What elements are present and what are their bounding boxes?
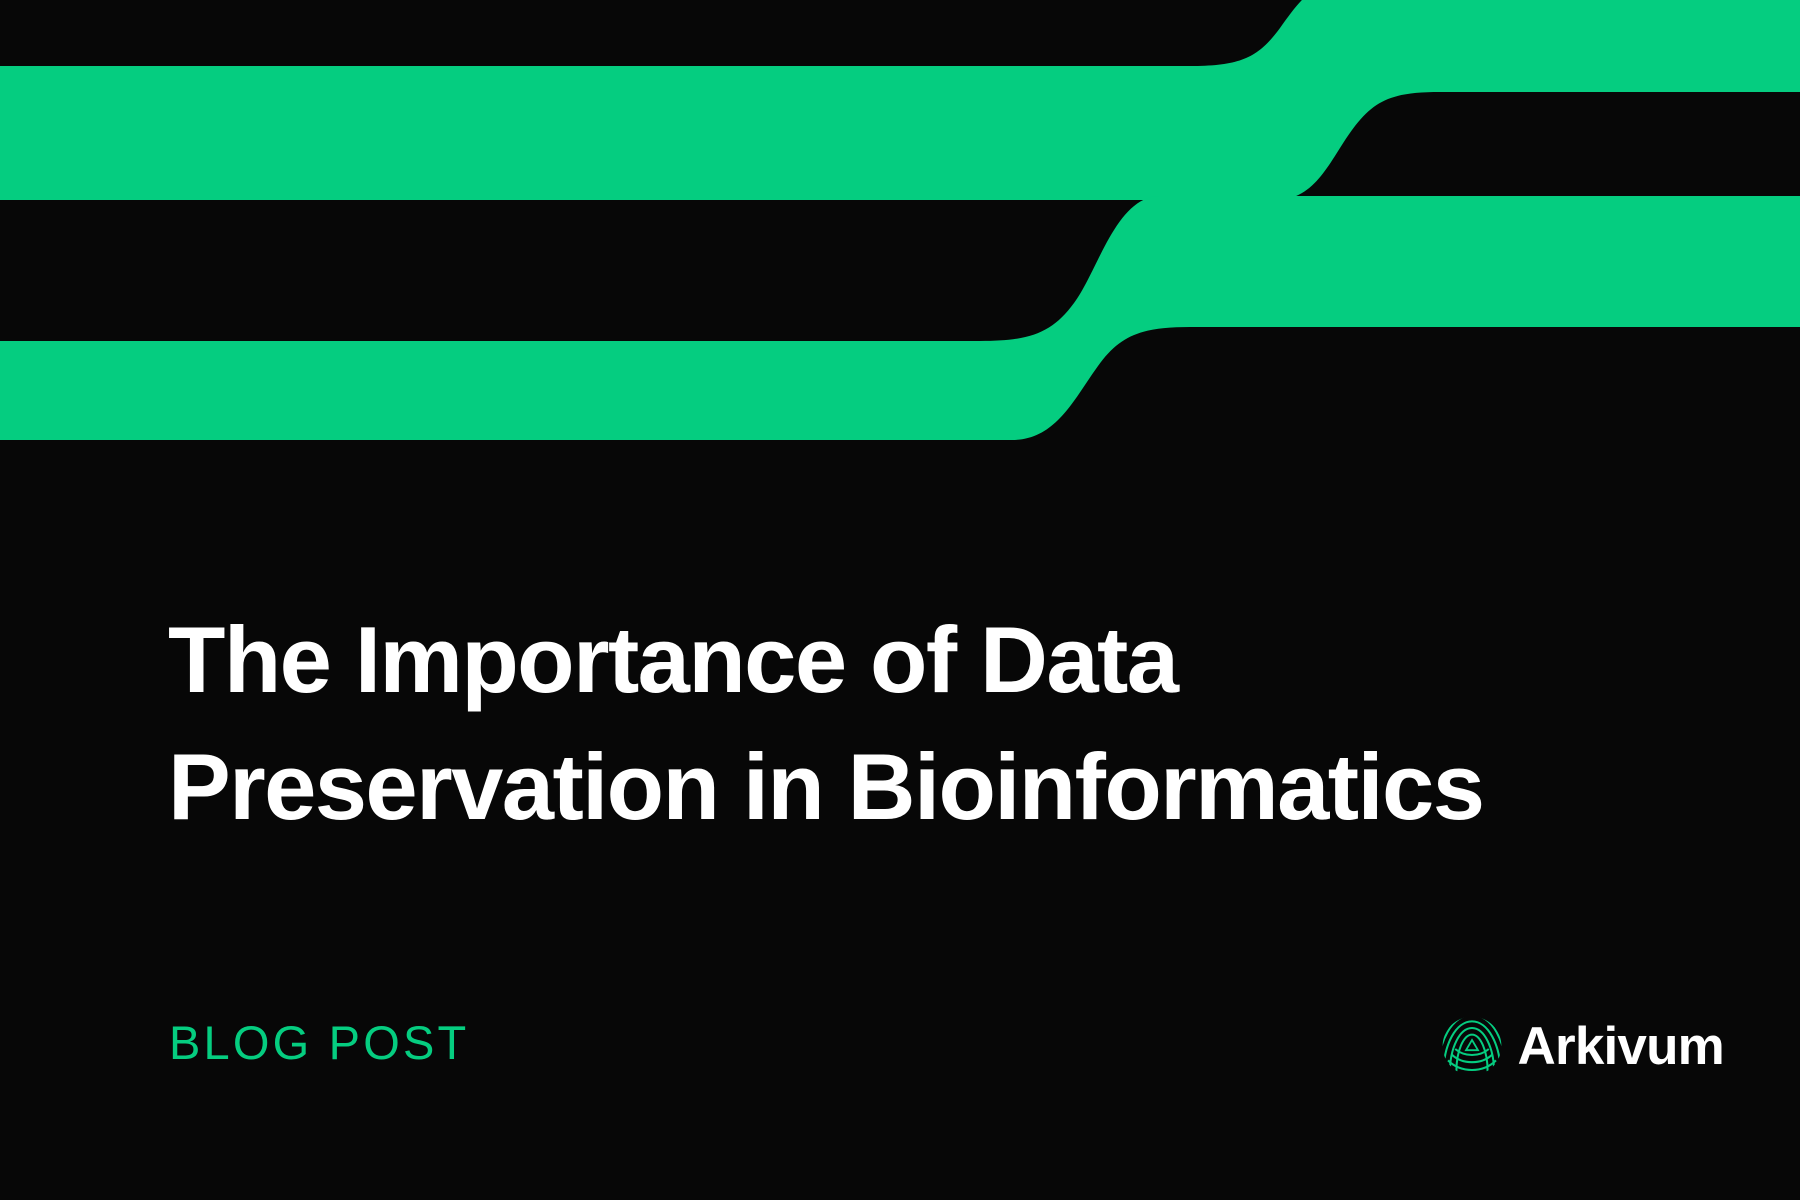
flowing-stripes-graphic <box>0 0 1800 460</box>
arkivum-fingerprint-circle-icon <box>1442 1016 1502 1076</box>
brand-wordmark: Arkivum <box>1518 1020 1724 1073</box>
page-title: The Importance of Data Preservation in B… <box>168 596 1588 850</box>
blog-post-hero-card: The Importance of Data Preservation in B… <box>0 0 1800 1200</box>
brand-lockup: Arkivum <box>1442 1015 1724 1077</box>
content-type-label: BLOG POST <box>169 1014 469 1072</box>
